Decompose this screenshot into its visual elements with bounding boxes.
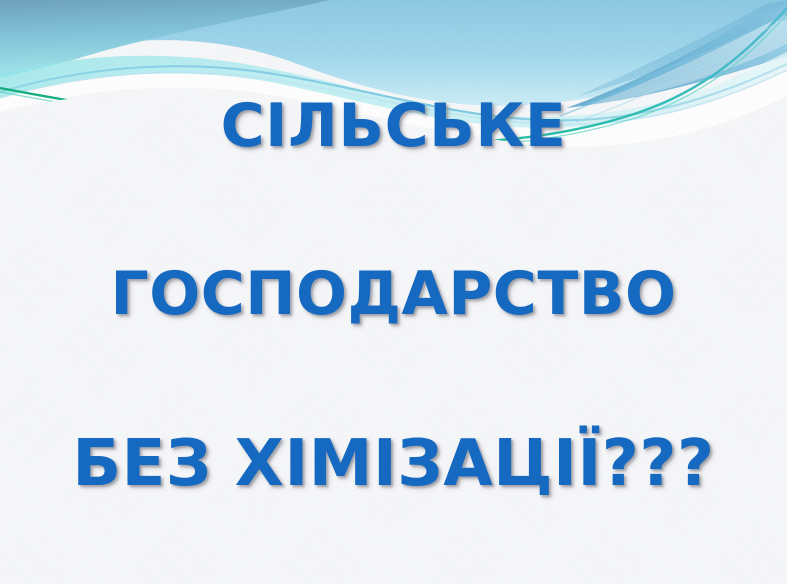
title-line-3: БЕЗ ХІМІЗАЦІЇ??? [72, 432, 714, 496]
slide-title-block: СІЛЬСЬКЕ ГОСПОДАРСТВО БЕЗ ХІМІЗАЦІЇ??? [0, 0, 787, 584]
title-line-1: СІЛЬСЬКЕ [221, 96, 567, 156]
title-line-2: ГОСПОДАРСТВО [110, 264, 676, 324]
presentation-slide: СІЛЬСЬКЕ ГОСПОДАРСТВО БЕЗ ХІМІЗАЦІЇ??? [0, 0, 787, 584]
